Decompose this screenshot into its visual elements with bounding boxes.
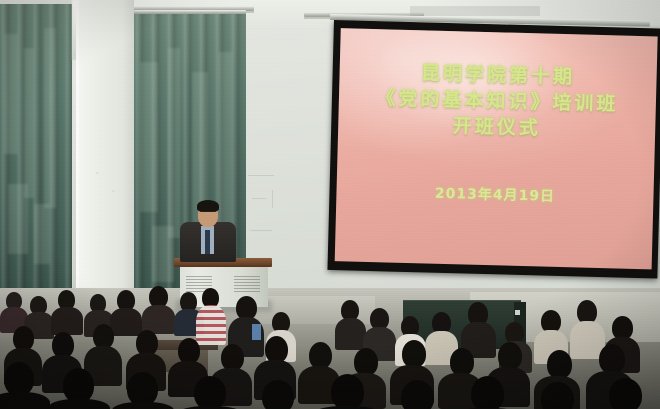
pillar-mark [112,190,115,192]
audience-member-front [52,368,106,409]
audience-member-front [596,378,654,409]
projection-screen: 昆明学院第十期 《党的基本知识》培训班 开班仪式 2013年4月19日 [327,20,660,279]
curtain-rail-right [134,10,246,14]
audience-member-front [0,362,46,409]
pillar-mark [96,172,99,174]
audience-member-front [388,380,446,409]
audience-member-front [458,376,516,409]
cabinet-latch [515,310,520,315]
slide-date: 2013年4月19日 [336,180,653,208]
audience-member [54,290,80,334]
wall-mark [248,175,274,176]
speaker-glasses [200,211,216,215]
audience-member-striped [196,288,226,344]
lecture-hall-photo: 昆明学院第十期 《党的基本知识》培训班 开班仪式 2013年4月19日 [0,0,660,409]
audience-member-front [116,372,170,409]
wall-mark [272,190,273,208]
audience-member-front [318,374,376,409]
wall-mark [250,230,272,231]
wall-mark [252,198,266,199]
screen-surface: 昆明学院第十期 《党的基本知识》培训班 开班仪式 2013年4月19日 [335,28,658,269]
wall-pillar [76,0,134,296]
audience-member-front [528,382,586,409]
screen-mount-shadow [410,6,540,16]
audience-member [336,300,364,348]
slide-title-block: 昆明学院第十期 《党的基本知识》培训班 开班仪式 [338,58,657,145]
curtain-left [0,4,72,296]
audience-member-front [182,376,238,409]
speaker-tie [205,230,210,254]
pillar-highlight [76,0,79,296]
audience-member-front [250,380,306,409]
audience-member [144,286,172,332]
podium-panel-right [234,274,260,292]
